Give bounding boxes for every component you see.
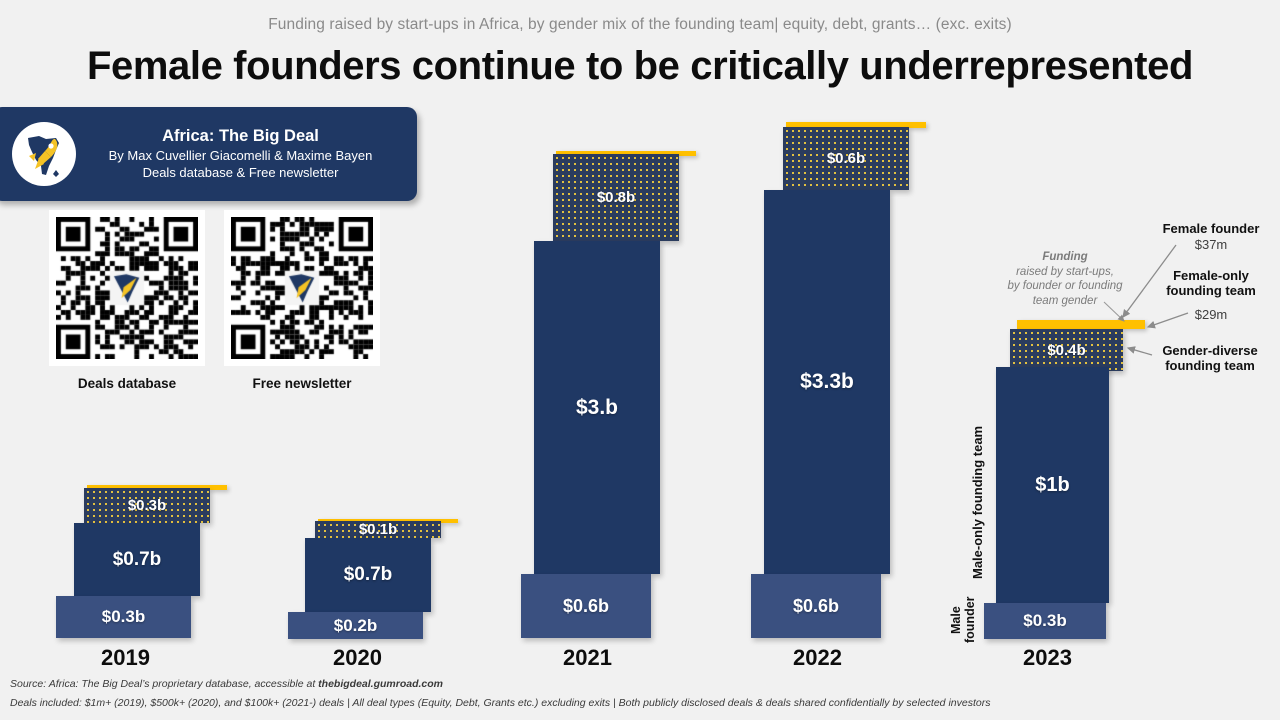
- bar-label: $0.6b: [563, 596, 609, 617]
- footer: Source: Africa: The Big Deal’s proprieta…: [10, 675, 990, 712]
- bar-label: $0.6b: [827, 150, 865, 167]
- bar-label: $0.3b: [1023, 611, 1066, 631]
- annotation-arrows: [0, 0, 1280, 720]
- footer-source: Source: Africa: The Big Deal’s proprieta…: [10, 675, 990, 693]
- bar-label: $0.4b: [1047, 342, 1085, 359]
- bar-label: $0.8b: [597, 189, 635, 206]
- bar-label: $0.7b: [344, 564, 393, 586]
- stacked-bar-chart: $0.3b $0.7b $0.3b 2019 $0.1b $0.7b $0.2b…: [0, 0, 1280, 720]
- bar-label: $3.3b: [800, 370, 854, 394]
- bar-label: $0.7b: [113, 549, 162, 571]
- bar-label: $0.2b: [334, 616, 377, 636]
- bar-label: $3.b: [576, 396, 618, 420]
- bar-label: $0.6b: [793, 596, 839, 617]
- bar-label: $0.3b: [102, 607, 145, 627]
- bar-label: $0.3b: [128, 497, 166, 514]
- footer-source-link[interactable]: thebigdeal.gumroad.com: [318, 678, 443, 690]
- footer-deals-included: Deals included: $1m+ (2019), $500k+ (202…: [10, 694, 990, 712]
- bar-label: $1b: [1035, 474, 1069, 497]
- bar-label: $0.1b: [359, 521, 397, 538]
- footer-source-prefix: Source: Africa: The Big Deal’s proprieta…: [10, 678, 318, 690]
